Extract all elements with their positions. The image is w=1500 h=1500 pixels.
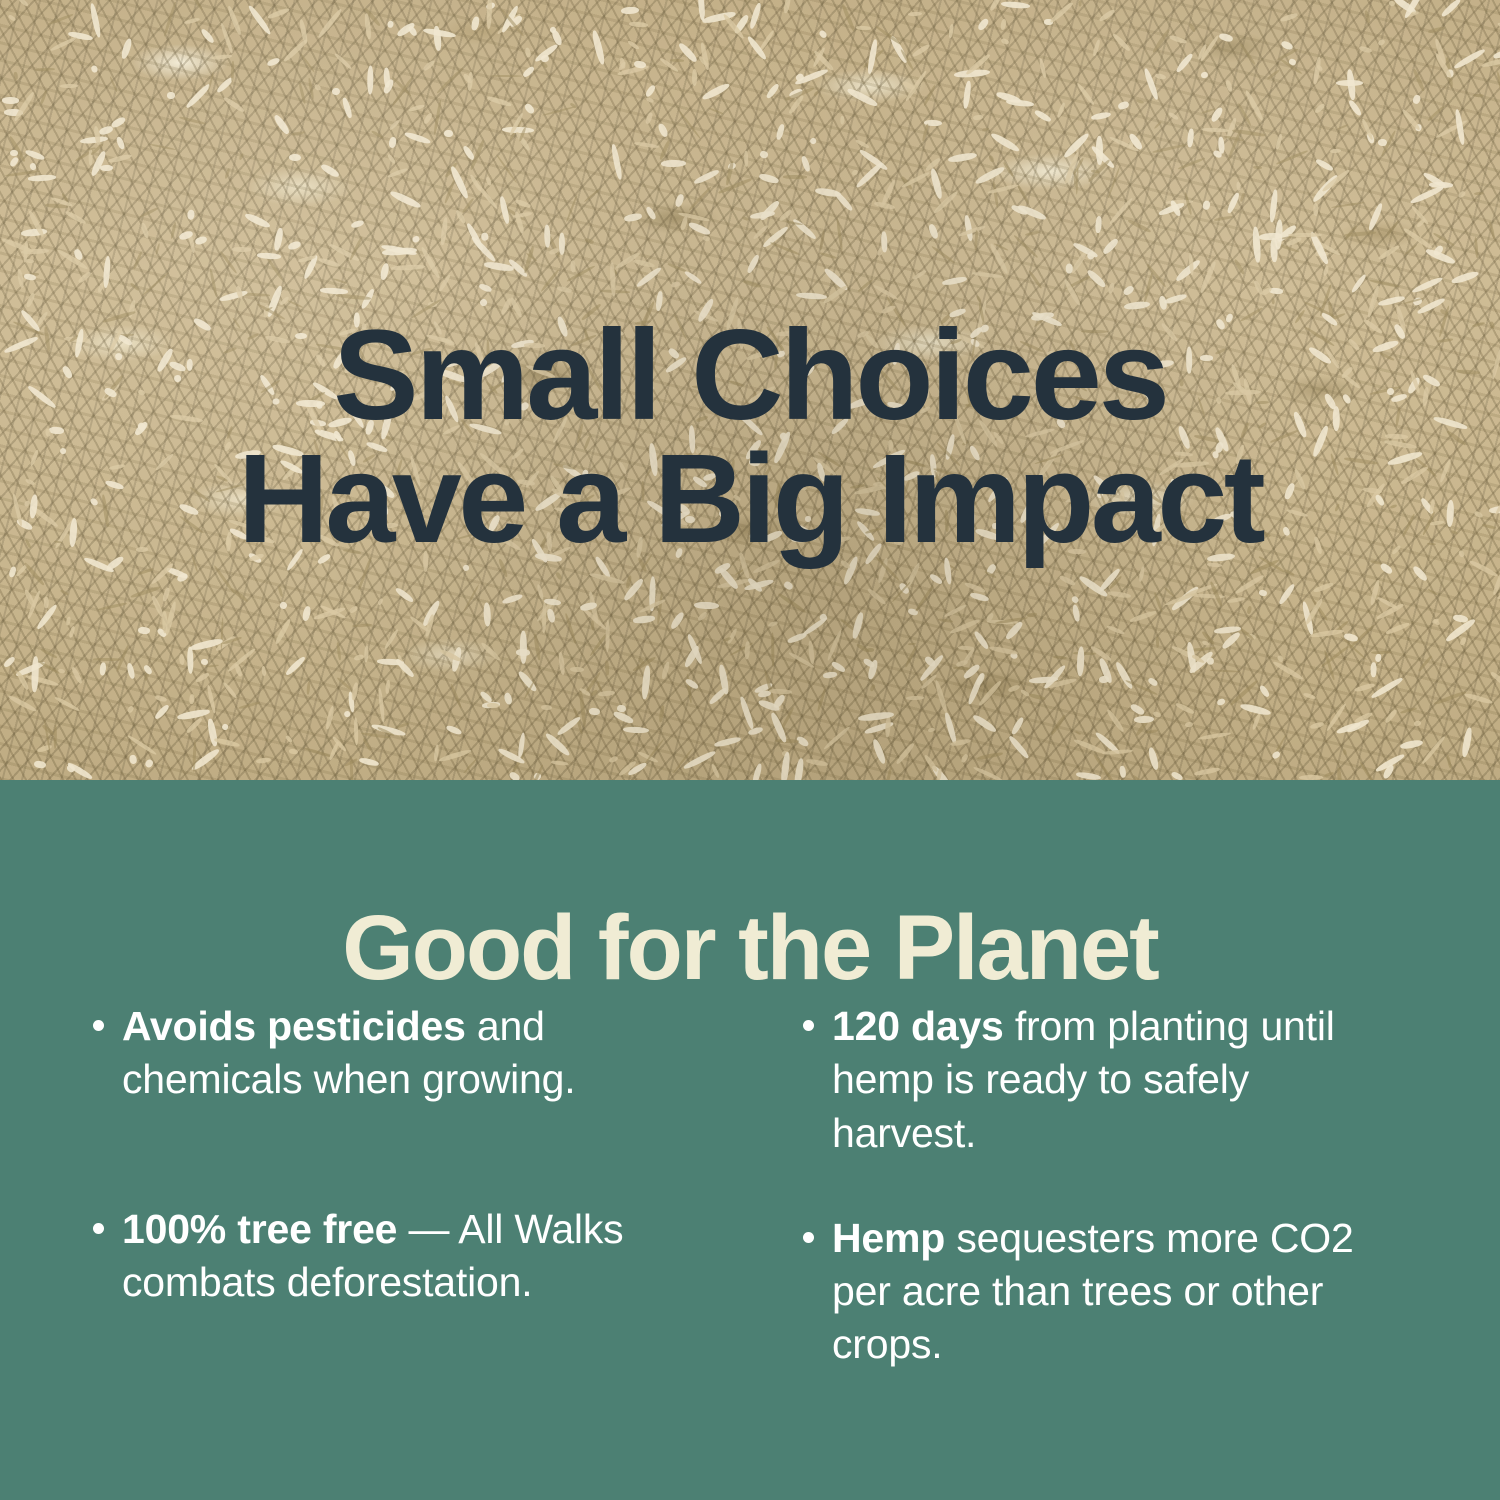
list-item: 120 days from planting until hemp is rea…: [790, 1000, 1390, 1160]
headline-line-1: Small Choices: [0, 314, 1500, 438]
page-title: Small Choices Have a Big Impact: [0, 314, 1500, 560]
list-item: 100% tree free — All Walks combats defor…: [80, 1203, 680, 1310]
bullet-dot-icon: [93, 1020, 104, 1031]
list-item: Avoids pesticides and chemicals when gro…: [80, 1000, 680, 1107]
list-item-lead: 100% tree free: [122, 1206, 397, 1252]
bullet-dot-icon: [93, 1223, 104, 1234]
benefits-column-left: Avoids pesticides and chemicals when gro…: [80, 1000, 680, 1309]
list-item-lead: 120 days: [832, 1003, 1004, 1049]
headline-line-2: Have a Big Impact: [0, 438, 1500, 560]
bullet-dot-icon: [803, 1232, 814, 1243]
poster-canvas: Small Choices Have a Big Impact Good for…: [0, 0, 1500, 1500]
section-subheading: Good for the Planet: [0, 902, 1500, 994]
bullet-dot-icon: [803, 1020, 814, 1031]
list-item-lead: Avoids pesticides: [122, 1003, 466, 1049]
benefits-column-right: 120 days from planting until hemp is rea…: [790, 1000, 1390, 1372]
list-item: Hemp sequesters more CO2 per acre than t…: [790, 1212, 1390, 1372]
list-item-lead: Hemp: [832, 1215, 945, 1261]
benefits-list: Avoids pesticides and chemicals when gro…: [0, 1000, 1500, 1420]
